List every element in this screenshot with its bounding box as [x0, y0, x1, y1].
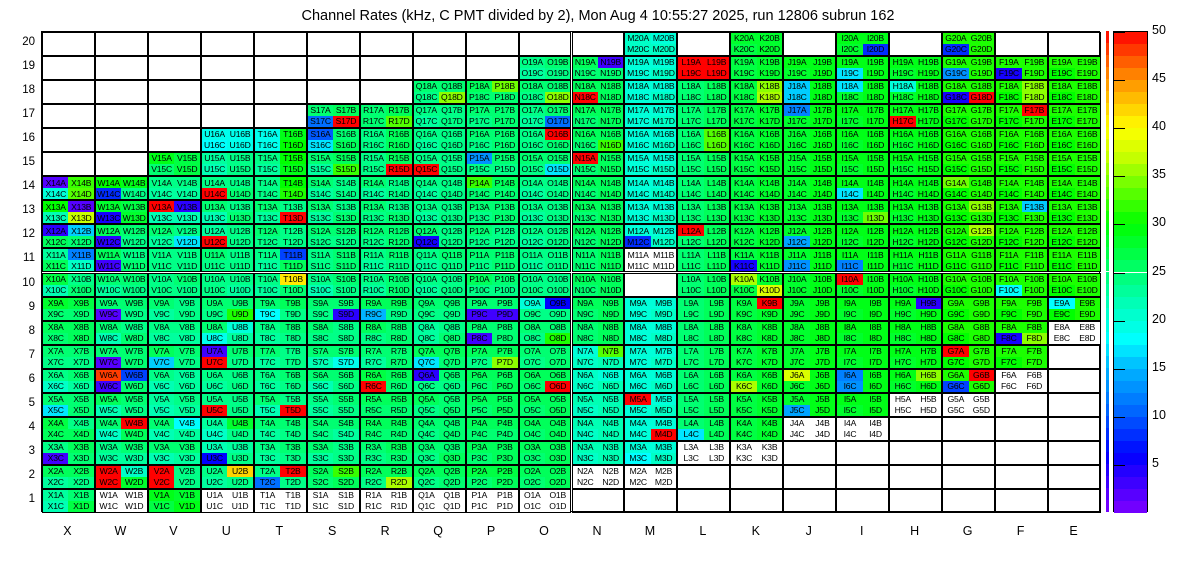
channel-E11A[interactable]: E11A [1049, 249, 1074, 260]
heatmap-cell-H13[interactable]: H13AH13BH13CH13D [889, 200, 942, 224]
channel-N18C[interactable]: N18C [573, 92, 598, 103]
heatmap-cell-K15[interactable]: K15AK15BK15CK15D [730, 152, 783, 176]
heatmap-cell-J7[interactable]: J7AJ7BJ7CJ7D [783, 345, 836, 369]
heatmap-cell-I18[interactable]: I18AI18BI18CI18D [836, 80, 889, 104]
channel-V14C[interactable]: V14C [149, 188, 174, 199]
heatmap-cell-F8[interactable]: F8AF8BF8CF8D [995, 321, 1048, 345]
heatmap-cell-H2[interactable] [889, 465, 942, 489]
heatmap-cell-V13[interactable]: V13AV13BV13CV13D [148, 200, 201, 224]
channel-R6C[interactable]: R6C [361, 381, 386, 392]
channel-K20A[interactable]: K20A [731, 33, 756, 44]
channel-G15A[interactable]: G15A [943, 153, 968, 164]
channel-O10C[interactable]: O10C [520, 285, 545, 296]
channel-T1D[interactable]: T1D [280, 501, 305, 512]
channel-V1B[interactable]: V1B [174, 490, 199, 501]
channel-E9A[interactable]: E9A [1049, 298, 1074, 309]
heatmap-cell-E4[interactable] [1048, 417, 1101, 441]
heatmap-cell-Q14[interactable]: Q14AQ14BQ14CQ14D [413, 176, 466, 200]
channel-P4A[interactable]: P4A [467, 418, 492, 429]
channel-N17A[interactable]: N17A [573, 105, 598, 116]
heatmap-cell-F4[interactable] [995, 417, 1048, 441]
channel-X10A[interactable]: X10A [43, 274, 68, 285]
channel-L11A[interactable]: L11A [678, 249, 703, 260]
channel-Q15A[interactable]: Q15A [414, 153, 439, 164]
heatmap-cell-U12[interactable]: U12AU12BU12CU12D [201, 224, 254, 248]
heatmap-cell-Q3[interactable]: Q3AQ3BQ3CQ3D [413, 441, 466, 465]
channel-N7B[interactable]: N7B [598, 346, 623, 357]
channel-M8C[interactable]: M8C [625, 333, 650, 344]
channel-F15C[interactable]: F15C [996, 164, 1021, 175]
channel-X7C[interactable]: X7C [43, 357, 68, 368]
channel-M5C[interactable]: M5C [625, 405, 650, 416]
heatmap-cell-S13[interactable]: S13AS13BS13CS13D [307, 200, 360, 224]
channel-W14A[interactable]: W14A [96, 177, 121, 188]
channel-I19D[interactable]: I19D [863, 68, 888, 79]
heatmap-cell-X4[interactable]: X4AX4BX4CX4D [42, 417, 95, 441]
channel-I7C[interactable]: I7C [837, 357, 862, 368]
channel-S14A[interactable]: S14A [308, 177, 333, 188]
channel-S9B[interactable]: S9B [333, 298, 358, 309]
channel-J11A[interactable]: J11A [784, 249, 809, 260]
channel-N16D[interactable]: N16D [598, 140, 623, 151]
channel-O7C[interactable]: O7C [520, 357, 545, 368]
channel-N5D[interactable]: N5D [598, 405, 623, 416]
channel-I6C[interactable]: I6C [837, 381, 862, 392]
channel-N12B[interactable]: N12B [598, 225, 623, 236]
channel-V1C[interactable]: V1C [149, 501, 174, 512]
heatmap-cell-U3[interactable]: U3AU3BU3CU3D [201, 441, 254, 465]
heatmap-cell-M9[interactable]: M9AM9BM9CM9D [624, 297, 677, 321]
channel-K6C[interactable]: K6C [731, 381, 756, 392]
channel-T14B[interactable]: T14B [280, 177, 305, 188]
channel-X9B[interactable]: X9B [68, 298, 93, 309]
channel-I11B[interactable]: I11B [863, 249, 888, 260]
channel-S7D[interactable]: S7D [333, 357, 358, 368]
heatmap-cell-U20[interactable] [201, 32, 254, 56]
heatmap-cell-W14[interactable]: W14AW14BW14CW14D [95, 176, 148, 200]
heatmap-cell-W7[interactable]: W7AW7BW7CW7D [95, 345, 148, 369]
channel-P3A[interactable]: P3A [467, 442, 492, 453]
channel-T10D[interactable]: T10D [280, 285, 305, 296]
heatmap-cell-O1[interactable]: O1AO1BO1CO1D [519, 489, 572, 513]
channel-I17D[interactable]: I17D [863, 116, 888, 127]
channel-R11A[interactable]: R11A [361, 249, 386, 260]
channel-I14B[interactable]: I14B [863, 177, 888, 188]
channel-J19C[interactable]: J19C [784, 68, 809, 79]
channel-I6D[interactable]: I6D [863, 381, 888, 392]
channel-Q8B[interactable]: Q8B [439, 322, 464, 333]
channel-R7C[interactable]: R7C [361, 357, 386, 368]
channel-K16D[interactable]: K16D [757, 140, 782, 151]
channel-L15A[interactable]: L15A [678, 153, 703, 164]
channel-P5A[interactable]: P5A [467, 394, 492, 405]
channel-T4B[interactable]: T4B [280, 418, 305, 429]
channel-Q6B[interactable]: Q6B [439, 370, 464, 381]
heatmap-cell-J15[interactable]: J15AJ15BJ15CJ15D [783, 152, 836, 176]
channel-E19B[interactable]: E19B [1075, 57, 1100, 68]
channel-G19C[interactable]: G19C [943, 68, 968, 79]
channel-M18B[interactable]: M18B [651, 81, 676, 92]
heatmap-cell-S15[interactable]: S15AS15BS15CS15D [307, 152, 360, 176]
channel-J15B[interactable]: J15B [810, 153, 835, 164]
channel-N5C[interactable]: N5C [573, 405, 598, 416]
channel-H15B[interactable]: H15B [916, 153, 941, 164]
channel-I4B[interactable]: I4B [863, 418, 888, 429]
channel-M15B[interactable]: M15B [651, 153, 676, 164]
channel-T5B[interactable]: T5B [280, 394, 305, 405]
channel-W4B[interactable]: W4B [121, 418, 146, 429]
channel-U11B[interactable]: U11B [227, 249, 252, 260]
channel-T13C[interactable]: T13C [255, 212, 280, 223]
channel-O2D[interactable]: O2D [545, 477, 570, 488]
channel-N15D[interactable]: N15D [598, 164, 623, 175]
heatmap-cell-E12[interactable]: E12AE12BE12CE12D [1048, 224, 1101, 248]
channel-K13C[interactable]: K13C [731, 212, 756, 223]
channel-U5C[interactable]: U5C [202, 405, 227, 416]
channel-R13A[interactable]: R13A [361, 201, 386, 212]
channel-H11B[interactable]: H11B [916, 249, 941, 260]
channel-G9B[interactable]: G9B [969, 298, 994, 309]
heatmap-cell-R15[interactable]: R15AR15BR15CR15D [360, 152, 413, 176]
channel-P13A[interactable]: P13A [467, 201, 492, 212]
channel-Q4B[interactable]: Q4B [439, 418, 464, 429]
channel-N6C[interactable]: N6C [573, 381, 598, 392]
channel-G11C[interactable]: G11C [943, 260, 968, 271]
heatmap-cell-L19[interactable]: L19AL19BL19CL19D [677, 56, 730, 80]
channel-U8A[interactable]: U8A [202, 322, 227, 333]
channel-N2C[interactable]: N2C [573, 477, 598, 488]
channel-L12D[interactable]: L12D [704, 236, 729, 247]
channel-U14C[interactable]: U14C [202, 188, 227, 199]
channel-Q17C[interactable]: Q17C [414, 116, 439, 127]
channel-X6B[interactable]: X6B [68, 370, 93, 381]
channel-V3B[interactable]: V3B [174, 442, 199, 453]
channel-L9A[interactable]: L9A [678, 298, 703, 309]
channel-G16D[interactable]: G16D [969, 140, 994, 151]
channel-V15C[interactable]: V15C [149, 164, 174, 175]
channel-E16B[interactable]: E16B [1075, 129, 1100, 140]
channel-U6B[interactable]: U6B [227, 370, 252, 381]
channel-N2D[interactable]: N2D [598, 477, 623, 488]
channel-S6B[interactable]: S6B [333, 370, 358, 381]
channel-K16C[interactable]: K16C [731, 140, 756, 151]
channel-E17A[interactable]: E17A [1049, 105, 1074, 116]
channel-K12A[interactable]: K12A [731, 225, 756, 236]
channel-O12A[interactable]: O12A [520, 225, 545, 236]
channel-E14C[interactable]: E14C [1049, 188, 1074, 199]
channel-H18D[interactable]: H18D [916, 92, 941, 103]
heatmap-cell-F3[interactable] [995, 441, 1048, 465]
channel-R2C[interactable]: R2C [361, 477, 386, 488]
channel-L12C[interactable]: L12C [678, 236, 703, 247]
heatmap-cell-L10[interactable]: L10AL10BL10CL10D [677, 273, 730, 297]
channel-R1C[interactable]: R1C [361, 501, 386, 512]
channel-M13D[interactable]: M13D [651, 212, 676, 223]
heatmap-cell-J10[interactable]: J10AJ10BJ10CJ10D [783, 273, 836, 297]
channel-K9B[interactable]: K9B [757, 298, 782, 309]
channel-R14B[interactable]: R14B [386, 177, 411, 188]
channel-S7C[interactable]: S7C [308, 357, 333, 368]
channel-X8B[interactable]: X8B [68, 322, 93, 333]
channel-J8D[interactable]: J8D [810, 333, 835, 344]
heatmap-cell-F5[interactable] [995, 393, 1048, 417]
channel-Q5A[interactable]: Q5A [414, 394, 439, 405]
channel-R7D[interactable]: R7D [386, 357, 411, 368]
channel-X12B[interactable]: X12B [68, 225, 93, 236]
heatmap-cell-V5[interactable]: V5AV5BV5CV5D [148, 393, 201, 417]
channel-Q10D[interactable]: Q10D [439, 285, 464, 296]
channel-K14C[interactable]: K14C [731, 188, 756, 199]
channel-O18B[interactable]: O18B [545, 81, 570, 92]
channel-M4D[interactable]: M4D [651, 429, 676, 440]
channel-I11A[interactable]: I11A [837, 249, 862, 260]
channel-Q12A[interactable]: Q12A [414, 225, 439, 236]
channel-X2B[interactable]: X2B [68, 466, 93, 477]
channel-O6B[interactable]: O6B [545, 370, 570, 381]
channel-U9D[interactable]: U9D [227, 309, 252, 320]
channel-L10B[interactable]: L10B [704, 274, 729, 285]
channel-S17B[interactable]: S17B [333, 105, 358, 116]
channel-R7A[interactable]: R7A [361, 346, 386, 357]
channel-H12C[interactable]: H12C [890, 236, 915, 247]
channel-G14A[interactable]: G14A [943, 177, 968, 188]
heatmap-cell-E6[interactable] [1048, 369, 1101, 393]
channel-T1B[interactable]: T1B [280, 490, 305, 501]
heatmap-cell-T11[interactable]: T11AT11BT11CT11D [254, 248, 307, 272]
channel-T4D[interactable]: T4D [280, 429, 305, 440]
heatmap-cell-W1[interactable]: W1AW1BW1CW1D [95, 489, 148, 513]
channel-S9D[interactable]: S9D [333, 309, 358, 320]
channel-K10D[interactable]: K10D [757, 285, 782, 296]
channel-L8B[interactable]: L8B [704, 322, 729, 333]
channel-K8D[interactable]: K8D [757, 333, 782, 344]
channel-S2A[interactable]: S2A [308, 466, 333, 477]
heatmap-cell-J14[interactable]: J14AJ14BJ14CJ14D [783, 176, 836, 200]
channel-M8D[interactable]: M8D [651, 333, 676, 344]
channel-R2D[interactable]: R2D [386, 477, 411, 488]
channel-T11B[interactable]: T11B [280, 249, 305, 260]
heatmap-cell-I7[interactable]: I7AI7BI7CI7D [836, 345, 889, 369]
channel-N4C[interactable]: N4C [573, 429, 598, 440]
channel-P5D[interactable]: P5D [492, 405, 517, 416]
channel-Q13C[interactable]: Q13C [414, 212, 439, 223]
channel-S4B[interactable]: S4B [333, 418, 358, 429]
channel-J18C[interactable]: J18C [784, 92, 809, 103]
heatmap-cell-R13[interactable]: R13AR13BR13CR13D [360, 200, 413, 224]
channel-R11D[interactable]: R11D [386, 260, 411, 271]
channel-I17C[interactable]: I17C [837, 116, 862, 127]
channel-P4B[interactable]: P4B [492, 418, 517, 429]
channel-F9D[interactable]: F9D [1022, 309, 1047, 320]
channel-H16C[interactable]: H16C [890, 140, 915, 151]
channel-O6D[interactable]: O6D [545, 381, 570, 392]
channel-R11C[interactable]: R11C [361, 260, 386, 271]
channel-K20C[interactable]: K20C [731, 44, 756, 55]
channel-R13D[interactable]: R13D [386, 212, 411, 223]
channel-S11B[interactable]: S11B [333, 249, 358, 260]
channel-U4C[interactable]: U4C [202, 429, 227, 440]
channel-H11A[interactable]: H11A [890, 249, 915, 260]
channel-S1C[interactable]: S1C [308, 501, 333, 512]
channel-G11B[interactable]: G11B [969, 249, 994, 260]
channel-Q6D[interactable]: Q6D [439, 381, 464, 392]
channel-S8B[interactable]: S8B [333, 322, 358, 333]
heatmap-cell-F2[interactable] [995, 465, 1048, 489]
channel-J8C[interactable]: J8C [784, 333, 809, 344]
channel-R2B[interactable]: R2B [386, 466, 411, 477]
channel-K4D[interactable]: K4D [757, 429, 782, 440]
heatmap-cell-V16[interactable] [148, 128, 201, 152]
heatmap-cell-K5[interactable]: K5AK5BK5CK5D [730, 393, 783, 417]
channel-N4D[interactable]: N4D [598, 429, 623, 440]
channel-Q13A[interactable]: Q13A [414, 201, 439, 212]
channel-Q2B[interactable]: Q2B [439, 466, 464, 477]
heatmap-cell-G3[interactable] [942, 441, 995, 465]
channel-L18C[interactable]: L18C [678, 92, 703, 103]
channel-R16B[interactable]: R16B [386, 129, 411, 140]
channel-K13A[interactable]: K13A [731, 201, 756, 212]
heatmap-cell-T2[interactable]: T2AT2BT2CT2D [254, 465, 307, 489]
channel-L8A[interactable]: L8A [678, 322, 703, 333]
channel-Q5D[interactable]: Q5D [439, 405, 464, 416]
channel-P14B[interactable]: P14B [492, 177, 517, 188]
channel-M4A[interactable]: M4A [625, 418, 650, 429]
heatmap-cell-O4[interactable]: O4AO4BO4CO4D [519, 417, 572, 441]
channel-F7B[interactable]: F7B [1022, 346, 1047, 357]
channel-J15A[interactable]: J15A [784, 153, 809, 164]
channel-W6D[interactable]: W6D [121, 381, 146, 392]
channel-G10A[interactable]: G10A [943, 274, 968, 285]
channel-N6D[interactable]: N6D [598, 381, 623, 392]
channel-P7A[interactable]: P7A [467, 346, 492, 357]
heatmap-cell-S9[interactable]: S9AS9BS9CS9D [307, 297, 360, 321]
channel-P3B[interactable]: P3B [492, 442, 517, 453]
channel-T7B[interactable]: T7B [280, 346, 305, 357]
channel-P6C[interactable]: P6C [467, 381, 492, 392]
heatmap-cell-L17[interactable]: L17AL17BL17CL17D [677, 104, 730, 128]
channel-N7C[interactable]: N7C [573, 357, 598, 368]
channel-M5A[interactable]: M5A [625, 394, 650, 405]
channel-L19C[interactable]: L19C [678, 68, 703, 79]
channel-X5C[interactable]: X5C [43, 405, 68, 416]
channel-F10B[interactable]: F10B [1022, 274, 1047, 285]
channel-L17B[interactable]: L17B [704, 105, 729, 116]
channel-X9C[interactable]: X9C [43, 309, 68, 320]
channel-V8C[interactable]: V8C [149, 333, 174, 344]
channel-J7D[interactable]: J7D [810, 357, 835, 368]
heatmap-cell-W10[interactable]: W10AW10BW10CW10D [95, 273, 148, 297]
channel-S11A[interactable]: S11A [308, 249, 333, 260]
channel-V9D[interactable]: V9D [174, 309, 199, 320]
channel-F19D[interactable]: F19D [1022, 68, 1047, 79]
channel-Q3A[interactable]: Q3A [414, 442, 439, 453]
channel-X4C[interactable]: X4C [43, 429, 68, 440]
heatmap-cell-H9[interactable]: H9AH9BH9CH9D [889, 297, 942, 321]
channel-P2A[interactable]: P2A [467, 466, 492, 477]
channel-I16D[interactable]: I16D [863, 140, 888, 151]
channel-R9A[interactable]: R9A [361, 298, 386, 309]
channel-M2D[interactable]: M2D [651, 477, 676, 488]
channel-S4D[interactable]: S4D [333, 429, 358, 440]
channel-L16D[interactable]: L16D [704, 140, 729, 151]
channel-L15C[interactable]: L15C [678, 164, 703, 175]
channel-S7A[interactable]: S7A [308, 346, 333, 357]
channel-E19C[interactable]: E19C [1049, 68, 1074, 79]
channel-G15C[interactable]: G15C [943, 164, 968, 175]
heatmap-cell-F13[interactable]: F13AF13BF13CF13D [995, 200, 1048, 224]
channel-M6C[interactable]: M6C [625, 381, 650, 392]
channel-W13A[interactable]: W13A [96, 201, 121, 212]
channel-E12D[interactable]: E12D [1075, 236, 1100, 247]
channel-U10A[interactable]: U10A [202, 274, 227, 285]
channel-Q8A[interactable]: Q8A [414, 322, 439, 333]
channel-F9A[interactable]: F9A [996, 298, 1021, 309]
channel-N18D[interactable]: N18D [598, 92, 623, 103]
channel-R11B[interactable]: R11B [386, 249, 411, 260]
channel-I13B[interactable]: I13B [863, 201, 888, 212]
channel-rate-heatmap[interactable]: M20AM20BM20CM20DK20AK20BK20CK20DI20AI20B… [41, 31, 1100, 512]
heatmap-cell-S10[interactable]: S10AS10BS10CS10D [307, 273, 360, 297]
channel-M11A[interactable]: M11A [625, 249, 650, 260]
channel-O12B[interactable]: O12B [545, 225, 570, 236]
channel-Q9C[interactable]: Q9C [414, 309, 439, 320]
heatmap-cell-F11[interactable]: F11AF11BF11CF11D [995, 248, 1048, 272]
channel-I12C[interactable]: I12C [837, 236, 862, 247]
channel-R12B[interactable]: R12B [386, 225, 411, 236]
channel-M18D[interactable]: M18D [651, 92, 676, 103]
channel-V7C[interactable]: V7C [149, 357, 174, 368]
channel-L16A[interactable]: L16A [678, 129, 703, 140]
channel-O6A[interactable]: O6A [520, 370, 545, 381]
heatmap-cell-K20[interactable]: K20AK20BK20CK20D [730, 32, 783, 56]
channel-G10C[interactable]: G10C [943, 285, 968, 296]
channel-N12A[interactable]: N12A [573, 225, 598, 236]
channel-P13B[interactable]: P13B [492, 201, 517, 212]
heatmap-cell-H10[interactable]: H10AH10BH10CH10D [889, 273, 942, 297]
heatmap-cell-Q6[interactable]: Q6AQ6BQ6CQ6D [413, 369, 466, 393]
channel-J16A[interactable]: J16A [784, 129, 809, 140]
channel-E17C[interactable]: E17C [1049, 116, 1074, 127]
channel-O5B[interactable]: O5B [545, 394, 570, 405]
heatmap-cell-U13[interactable]: U13AU13BU13CU13D [201, 200, 254, 224]
channel-Q6A[interactable]: Q6A [414, 370, 439, 381]
heatmap-cell-S20[interactable] [307, 32, 360, 56]
channel-N18B[interactable]: N18B [598, 81, 623, 92]
channel-O10B[interactable]: O10B [545, 274, 570, 285]
channel-V4C[interactable]: V4C [149, 429, 174, 440]
channel-K14D[interactable]: K14D [757, 188, 782, 199]
channel-L17A[interactable]: L17A [678, 105, 703, 116]
channel-E14D[interactable]: E14D [1075, 188, 1100, 199]
heatmap-cell-G18[interactable]: G18AG18BG18CG18D [942, 80, 995, 104]
channel-K17C[interactable]: K17C [731, 116, 756, 127]
heatmap-cell-K8[interactable]: K8AK8BK8CK8D [730, 321, 783, 345]
heatmap-cell-X3[interactable]: X3AX3BX3CX3D [42, 441, 95, 465]
channel-T14C[interactable]: T14C [255, 188, 280, 199]
heatmap-cell-J3[interactable] [783, 441, 836, 465]
channel-M5D[interactable]: M5D [651, 405, 676, 416]
channel-H14B[interactable]: H14B [916, 177, 941, 188]
channel-U2C[interactable]: U2C [202, 477, 227, 488]
channel-R10D[interactable]: R10D [386, 285, 411, 296]
channel-K8A[interactable]: K8A [731, 322, 756, 333]
channel-J13D[interactable]: J13D [810, 212, 835, 223]
channel-V10B[interactable]: V10B [174, 274, 199, 285]
channel-S11C[interactable]: S11C [308, 260, 333, 271]
channel-X10D[interactable]: X10D [68, 285, 93, 296]
channel-O11A[interactable]: O11A [520, 249, 545, 260]
heatmap-cell-E18[interactable]: E18AE18BE18CE18D [1048, 80, 1101, 104]
